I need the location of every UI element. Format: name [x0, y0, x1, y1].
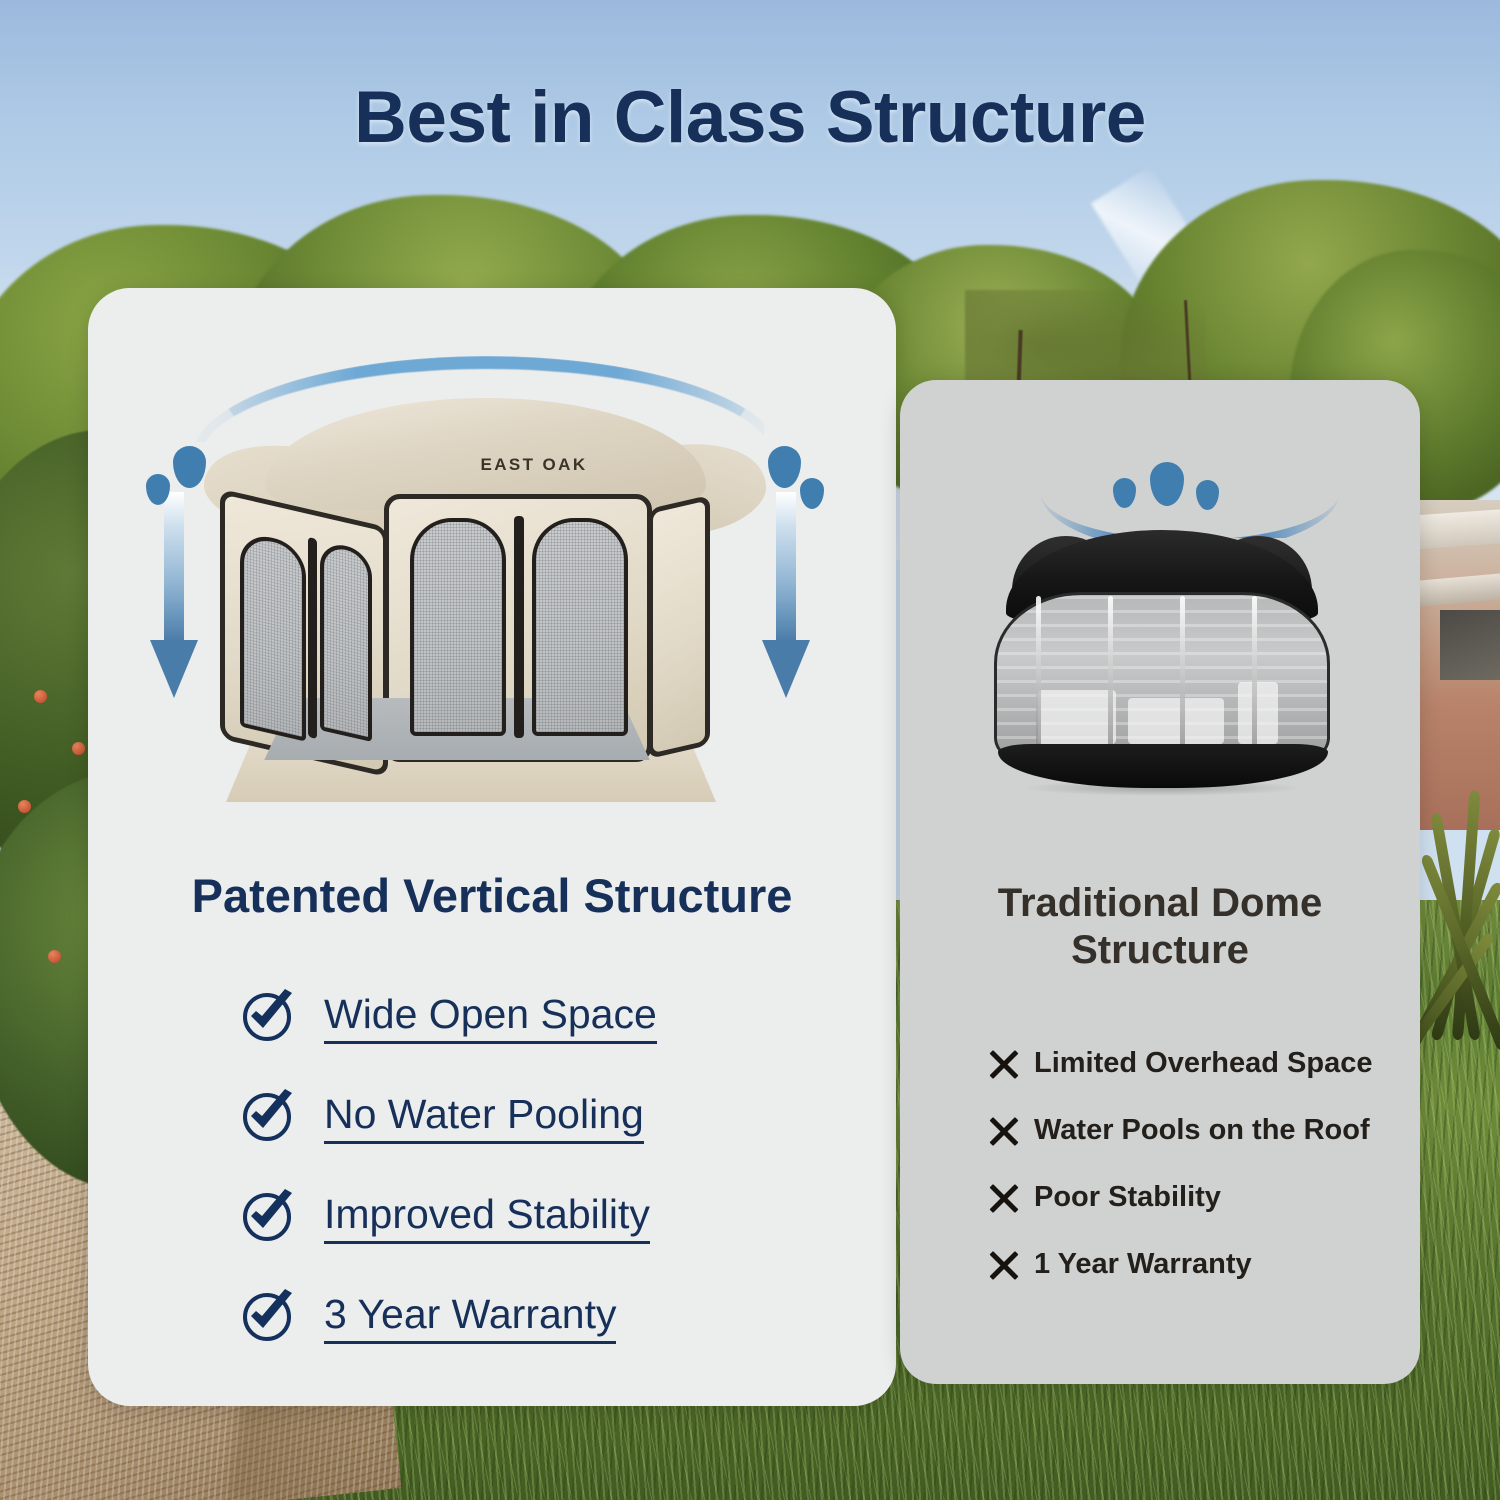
list-item: Improved Stability	[240, 1168, 880, 1268]
arrow-shaft	[164, 492, 184, 642]
vertical-wall-arrow-icon	[152, 492, 196, 702]
drawback-label: 1 Year Warranty	[1034, 1248, 1252, 1281]
right-card-heading: Traditional Dome Structure	[930, 880, 1390, 974]
list-item: Limited Overhead Space	[988, 1030, 1408, 1097]
list-item: 1 Year Warranty	[988, 1231, 1408, 1298]
cross-mark-icon	[988, 1115, 1020, 1147]
check-circle-icon	[240, 1289, 298, 1347]
berry	[48, 950, 61, 963]
house-window	[1440, 610, 1500, 680]
tent-mesh-screen	[532, 518, 628, 736]
cross-mark-icon	[988, 1182, 1020, 1214]
arrow-head	[150, 640, 198, 698]
feature-label: No Water Pooling	[324, 1092, 644, 1144]
list-item: No Water Pooling	[240, 1068, 880, 1168]
left-card-heading: Patented Vertical Structure	[88, 868, 896, 923]
tent-mesh-screen	[320, 540, 372, 742]
tent-zipper	[514, 516, 524, 738]
dome-interior-furniture	[1238, 682, 1278, 744]
berry	[72, 742, 85, 755]
feature-label: Wide Open Space	[324, 992, 657, 1044]
drawback-label: Water Pools on the Roof	[1034, 1114, 1370, 1147]
tent-mesh-screen	[240, 530, 306, 741]
feature-list: Wide Open Space No Water Pooling Improve…	[240, 968, 880, 1368]
tent-zipper	[308, 537, 317, 739]
list-item: Water Pools on the Roof	[988, 1097, 1408, 1164]
check-circle-icon	[240, 989, 298, 1047]
dome-rib	[1180, 596, 1185, 766]
tent-brand-label: EAST OAK	[444, 450, 624, 480]
dome-interior-furniture	[1128, 698, 1224, 744]
drawback-label: Poor Stability	[1034, 1181, 1221, 1214]
drawback-list: Limited Overhead Space Water Pools on th…	[988, 1030, 1408, 1298]
vertical-structure-tent-illustration: EAST OAK	[196, 398, 776, 816]
right-card-heading-line2: Structure	[930, 927, 1390, 974]
berry	[18, 800, 31, 813]
tent-mesh-screen	[410, 518, 506, 736]
check-circle-icon	[240, 1189, 298, 1247]
dome-rib	[1036, 596, 1041, 766]
dome-interior-furniture	[1038, 690, 1116, 744]
right-card-heading-line1: Traditional Dome	[930, 880, 1390, 927]
page-title: Best in Class Structure	[0, 76, 1500, 159]
cross-mark-icon	[988, 1048, 1020, 1080]
dome-rib	[1108, 596, 1113, 766]
list-item: Wide Open Space	[240, 968, 880, 1068]
list-item: 3 Year Warranty	[240, 1268, 880, 1368]
feature-label: Improved Stability	[324, 1192, 650, 1244]
tent-panel-back	[648, 495, 710, 759]
cross-mark-icon	[988, 1249, 1020, 1281]
dome-rib	[1252, 596, 1257, 766]
dome-shadow	[1022, 780, 1302, 796]
drawback-label: Limited Overhead Space	[1034, 1047, 1372, 1080]
feature-label: 3 Year Warranty	[324, 1292, 616, 1344]
dome-tent-illustration	[988, 530, 1336, 795]
arrow-shaft	[776, 492, 796, 642]
check-circle-icon	[240, 1089, 298, 1147]
list-item: Poor Stability	[988, 1164, 1408, 1231]
berry	[34, 690, 47, 703]
